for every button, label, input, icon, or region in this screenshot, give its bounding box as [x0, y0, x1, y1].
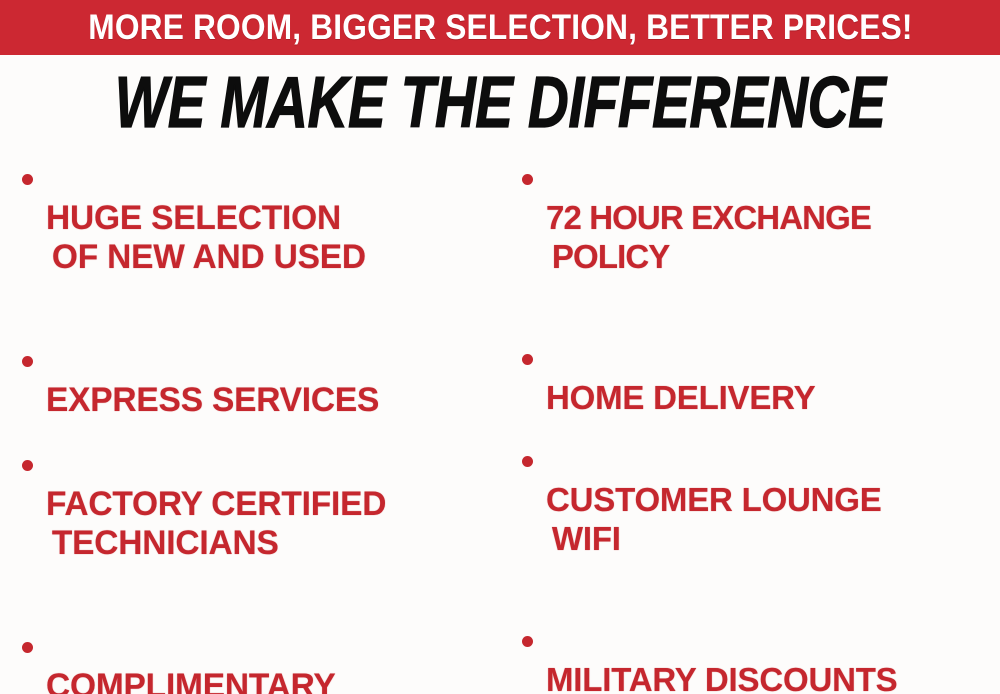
list-item: FACTORY CERTIFIED TECHNICIANS: [22, 446, 492, 602]
bullet-dot-icon: [22, 356, 33, 367]
list-item: 72 HOUR EXCHANGE POLICY: [522, 160, 1000, 316]
list-item-line-1: COMPLIMENTARY: [46, 667, 336, 694]
list-item-line-2: WIFI: [546, 520, 882, 559]
list-item-label: FACTORY CERTIFIED TECHNICIANS: [46, 446, 386, 602]
list-item: EXPRESS SERVICES: [22, 342, 492, 420]
list-item-label: COMPLIMENTARY LOANER CARS: [46, 628, 336, 694]
list-item-label: EXPRESS SERVICES: [46, 342, 379, 420]
list-item-label: 72 HOUR EXCHANGE POLICY: [546, 160, 871, 316]
promo-banner-text: MORE ROOM, BIGGER SELECTION, BETTER PRIC…: [88, 10, 912, 45]
list-item-line-2: TECHNICIANS: [46, 524, 386, 563]
list-item-line-1: EXPRESS SERVICES: [46, 381, 379, 419]
list-item-line-2: POLICY: [546, 238, 871, 277]
list-item: MILITARY DISCOUNTS: [522, 622, 1000, 694]
benefits-column-right: 72 HOUR EXCHANGE POLICY HOME DELIVERY CU…: [522, 160, 1000, 694]
bullet-dot-icon: [22, 642, 33, 653]
bullet-dot-icon: [522, 636, 533, 647]
list-item: CUSTOMER LOUNGE WIFI: [522, 442, 1000, 598]
bullet-dot-icon: [22, 174, 33, 185]
advertisement-page: MORE ROOM, BIGGER SELECTION, BETTER PRIC…: [0, 0, 1000, 694]
bullet-dot-icon: [22, 460, 33, 471]
page-title: WE MAKE THE DIFFERENCE: [115, 66, 886, 138]
list-item-label: HOME DELIVERY: [546, 340, 815, 418]
list-item: HOME DELIVERY: [522, 340, 1000, 418]
list-item-line-1: HOME DELIVERY: [546, 380, 815, 417]
benefits-column-left: HUGE SELECTION OF NEW AND USED EXPRESS S…: [22, 160, 492, 694]
list-item-label: MILITARY DISCOUNTS: [546, 622, 897, 694]
list-item-line-1: CUSTOMER LOUNGE: [546, 482, 882, 519]
list-item-line-1: 72 HOUR EXCHANGE: [546, 200, 871, 237]
list-item-line-1: FACTORY CERTIFIED: [46, 485, 386, 523]
list-item-label: CUSTOMER LOUNGE WIFI: [546, 442, 882, 598]
headline-container: WE MAKE THE DIFFERENCE: [0, 66, 1000, 138]
list-item-line-1: MILITARY DISCOUNTS: [546, 662, 897, 694]
list-item-label: HUGE SELECTION OF NEW AND USED: [46, 160, 366, 316]
list-item: COMPLIMENTARY LOANER CARS: [22, 628, 492, 694]
bullet-dot-icon: [522, 354, 533, 365]
bullet-dot-icon: [522, 174, 533, 185]
promo-banner: MORE ROOM, BIGGER SELECTION, BETTER PRIC…: [0, 0, 1000, 55]
list-item: HUGE SELECTION OF NEW AND USED: [22, 160, 492, 316]
bullet-dot-icon: [522, 456, 533, 467]
list-item-line-2: OF NEW AND USED: [46, 238, 366, 277]
list-item-line-1: HUGE SELECTION: [46, 199, 341, 237]
